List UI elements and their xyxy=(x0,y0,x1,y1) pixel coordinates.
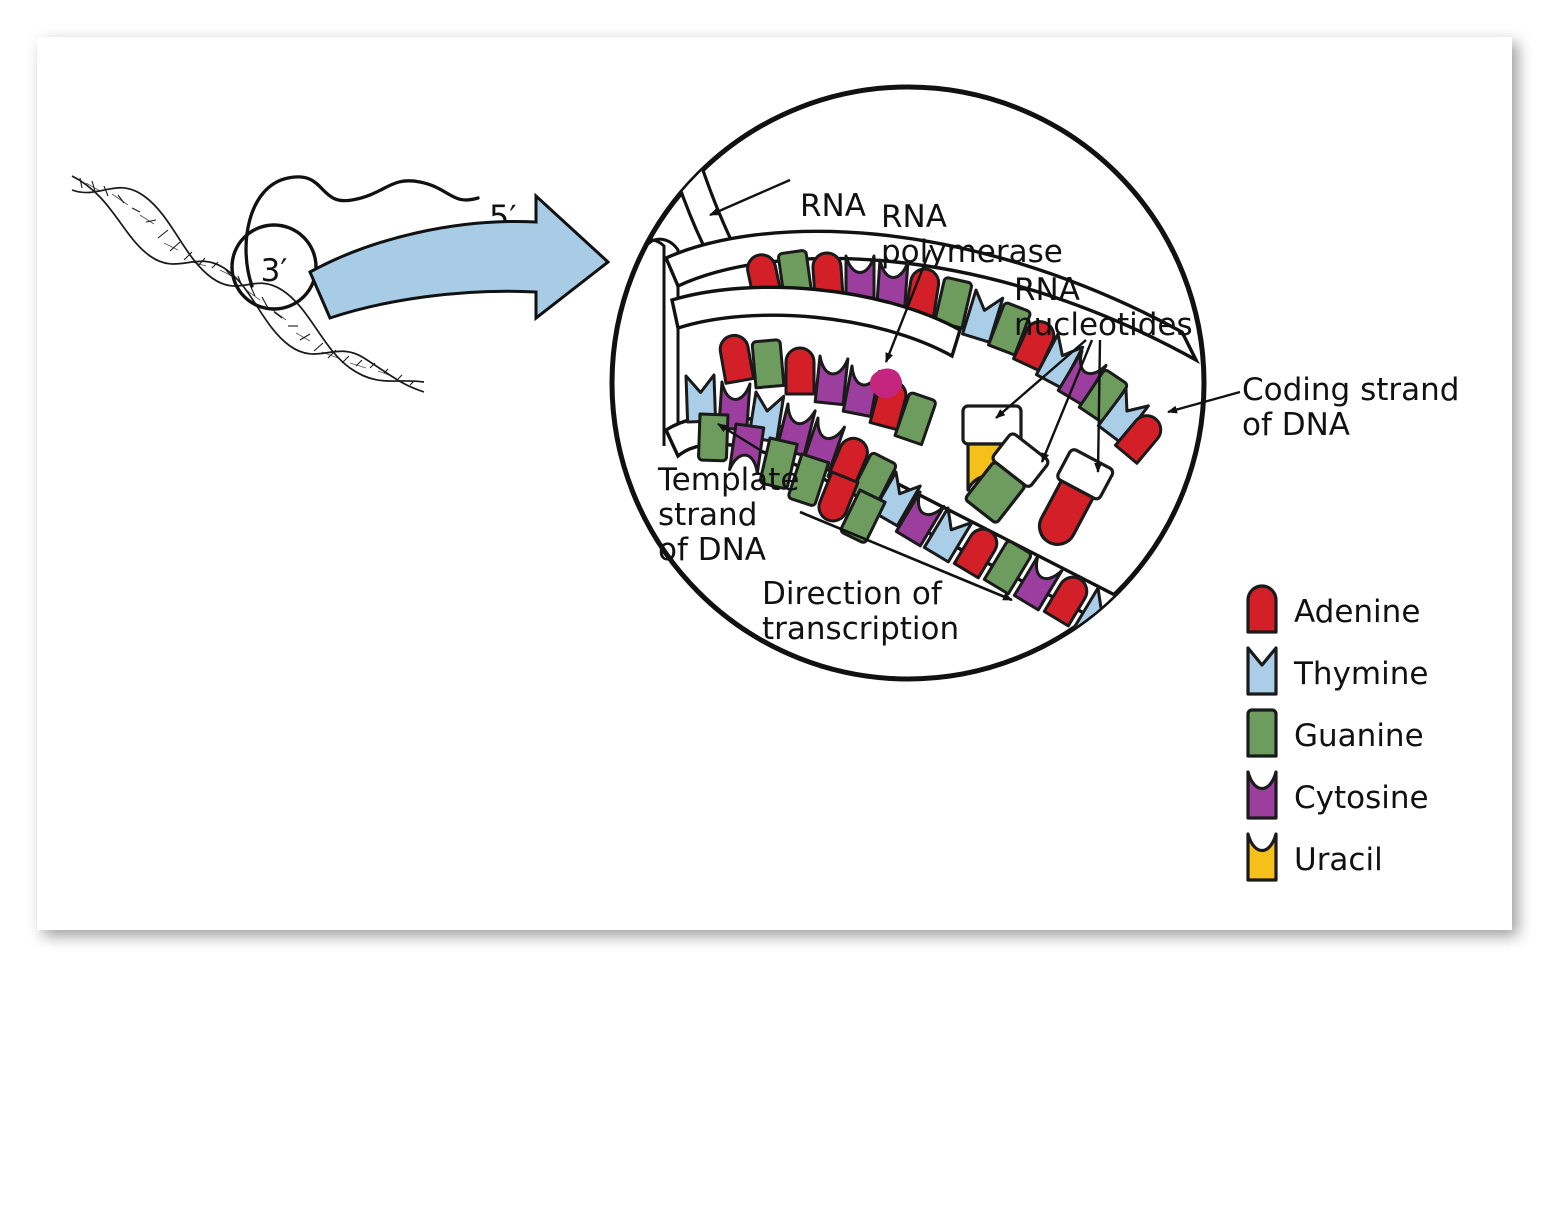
callout-direction-l2: transcription xyxy=(762,611,959,647)
legend-label-guanine: Guanine xyxy=(1294,718,1424,754)
callout-template-strand-l2: strand xyxy=(658,497,757,533)
callout-rna-polymerase-l2: polymerase xyxy=(881,234,1063,270)
zoom-arrow xyxy=(310,196,608,318)
callout-template-strand-l1: Template xyxy=(657,462,799,498)
legend-item-cytosine: Cytosine xyxy=(1248,772,1429,818)
legend-label-uracil: Uracil xyxy=(1294,842,1383,878)
callout-rna-polymerase-l1: RNA xyxy=(881,199,947,235)
legend-label-cytosine: Cytosine xyxy=(1294,780,1429,816)
callout-rna: RNA xyxy=(800,188,866,224)
callout-template-strand-l3: of DNA xyxy=(658,532,766,568)
transcription-diagram: 3′ 5′ xyxy=(0,0,1550,1217)
legend-item-guanine: Guanine xyxy=(1248,710,1424,756)
callout-coding-strand-l2: of DNA xyxy=(1242,407,1350,443)
callout-rna-nucleotides-l2: nucleotides xyxy=(1014,307,1193,343)
legend: Adenine Thymine Guanine Cy xyxy=(1248,586,1429,880)
callout-rna-nucleotides-l1: RNA xyxy=(1014,272,1080,308)
callout-direction-l1: Direction of xyxy=(762,576,943,612)
figure-stage: 3′ 5′ xyxy=(0,0,1550,1217)
callout-coding-strand-l1: Coding strand xyxy=(1242,372,1459,408)
legend-label-thymine: Thymine xyxy=(1293,656,1428,692)
legend-item-thymine: Thymine xyxy=(1248,648,1428,694)
three-prime-label: 3′ xyxy=(261,253,288,289)
legend-item-uracil: Uracil xyxy=(1248,834,1383,880)
legend-label-adenine: Adenine xyxy=(1294,594,1420,630)
legend-item-adenine: Adenine xyxy=(1248,586,1420,632)
